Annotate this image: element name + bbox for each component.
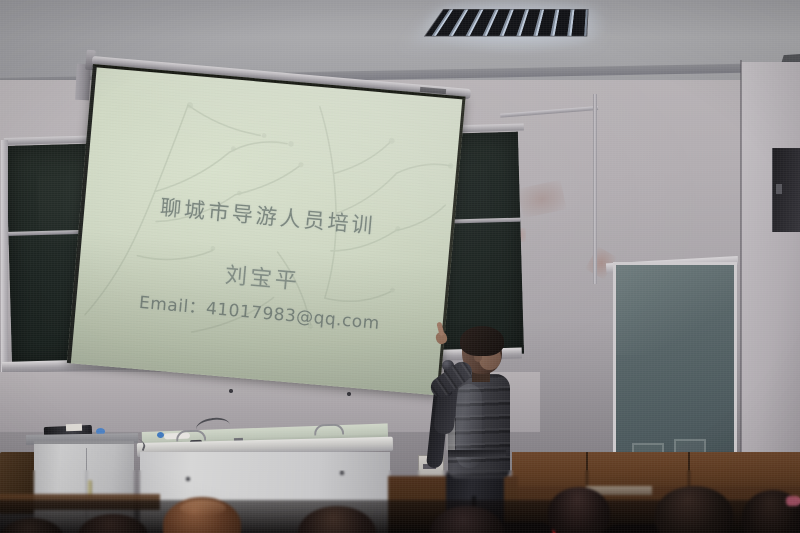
projection-screen: 聊城市导游人员培训 刘宝平 Email：41017983@qq.com	[67, 64, 466, 395]
wall-speaker-highlight	[776, 184, 782, 194]
equipment-on-cabinet	[66, 424, 82, 432]
podium-handle	[314, 423, 344, 435]
glass-reflection	[616, 265, 734, 355]
jacket-waist-band	[448, 450, 506, 457]
student-hair-highlight	[180, 500, 226, 516]
ceiling-light-fixture	[424, 9, 589, 37]
wall-scuff	[517, 180, 566, 218]
blue-object-on-podium	[157, 432, 164, 438]
wall-corner-line	[740, 60, 742, 480]
chalkboard-frame-left	[1, 140, 8, 372]
board-screw	[229, 389, 233, 393]
presenter-hair	[460, 326, 504, 356]
board-screw	[347, 392, 351, 396]
podium-handle	[176, 429, 206, 441]
podium-screw	[340, 471, 344, 475]
right-side-wall	[741, 62, 800, 492]
student-head	[548, 487, 610, 533]
podium-screw	[186, 477, 190, 481]
screen-black-border	[67, 64, 466, 395]
classroom-photo: 聊城市导游人员培训 刘宝平 Email：41017983@qq.com	[0, 0, 800, 533]
wall-conduit-vertical	[593, 94, 597, 284]
student-clothing-detail	[786, 496, 800, 506]
light-louvers	[425, 10, 587, 36]
